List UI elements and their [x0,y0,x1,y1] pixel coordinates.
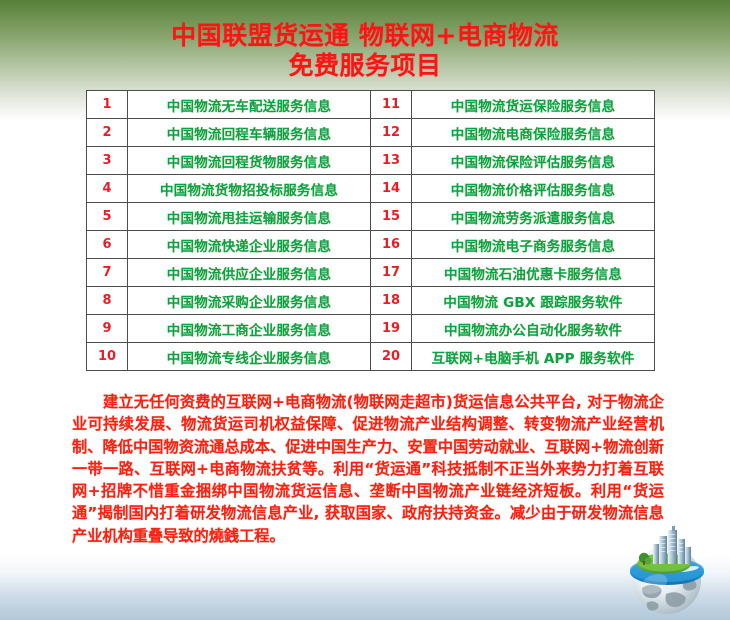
service-list-table: 1中国物流无车配送服务信息11中国物流货运保险服务信息2中国物流回程车辆服务信息… [86,90,655,371]
item-number: 15 [371,203,412,231]
description-paragraph: 建立无任何资费的互联网+电商物流(物联网走超市)货运信息公共平台, 对于物流企业… [72,391,664,547]
item-number: 19 [371,315,412,343]
item-number: 14 [371,175,412,203]
item-label[interactable]: 中国物流劳务派遣服务信息 [412,203,655,231]
item-label[interactable]: 中国物流办公自动化服务软件 [412,315,655,343]
item-label[interactable]: 中国物流回程车辆服务信息 [128,119,371,147]
item-number: 8 [87,287,128,315]
slide-title: 中国联盟货运通 物联网+电商物流 免费服务项目 [0,22,730,79]
table-row: 9中国物流工商企业服务信息19中国物流办公自动化服务软件 [87,315,655,343]
earth-globe-icon [612,522,722,618]
item-label[interactable]: 中国物流货运保险服务信息 [412,91,655,119]
title-line-2: 免费服务项目 [0,52,730,79]
table-row: 1中国物流无车配送服务信息11中国物流货运保险服务信息 [87,91,655,119]
title-line-1: 中国联盟货运通 物联网+电商物流 [0,22,730,49]
item-label[interactable]: 中国物流甩挂运输服务信息 [128,203,371,231]
table-row: 8中国物流采购企业服务信息18中国物流 GBX 跟踪服务软件 [87,287,655,315]
item-label[interactable]: 中国物流电子商务服务信息 [412,231,655,259]
item-number: 9 [87,315,128,343]
item-number: 12 [371,119,412,147]
item-label[interactable]: 中国物流快递企业服务信息 [128,231,371,259]
item-label[interactable]: 中国物流采购企业服务信息 [128,287,371,315]
item-label[interactable]: 中国物流价格评估服务信息 [412,175,655,203]
table-row: 10中国物流专线企业服务信息20互联网+电脑手机 APP 服务软件 [87,343,655,371]
table-row: 5中国物流甩挂运输服务信息15中国物流劳务派遣服务信息 [87,203,655,231]
item-label[interactable]: 中国物流专线企业服务信息 [128,343,371,371]
item-label[interactable]: 中国物流工商企业服务信息 [128,315,371,343]
table-row: 4中国物流货物招投标服务信息14中国物流价格评估服务信息 [87,175,655,203]
table-row: 2中国物流回程车辆服务信息12中国物流电商保险服务信息 [87,119,655,147]
item-number: 13 [371,147,412,175]
item-label[interactable]: 中国物流货物招投标服务信息 [128,175,371,203]
table-row: 3中国物流回程货物服务信息13中国物流保险评估服务信息 [87,147,655,175]
table-row: 6中国物流快递企业服务信息16中国物流电子商务服务信息 [87,231,655,259]
item-number: 18 [371,287,412,315]
item-label[interactable]: 中国物流供应企业服务信息 [128,259,371,287]
item-label[interactable]: 中国物流石油优惠卡服务信息 [412,259,655,287]
item-number: 7 [87,259,128,287]
item-label[interactable]: 中国物流回程货物服务信息 [128,147,371,175]
item-label[interactable]: 中国物流 GBX 跟踪服务软件 [412,287,655,315]
item-number: 2 [87,119,128,147]
item-number: 10 [87,343,128,371]
item-number: 16 [371,231,412,259]
item-number: 4 [87,175,128,203]
item-number: 1 [87,91,128,119]
item-label[interactable]: 互联网+电脑手机 APP 服务软件 [412,343,655,371]
item-number: 20 [371,343,412,371]
item-label[interactable]: 中国物流电商保险服务信息 [412,119,655,147]
item-label[interactable]: 中国物流保险评估服务信息 [412,147,655,175]
item-number: 17 [371,259,412,287]
item-number: 3 [87,147,128,175]
item-label[interactable]: 中国物流无车配送服务信息 [128,91,371,119]
slide-canvas: 中国联盟货运通 物联网+电商物流 免费服务项目 1中国物流无车配送服务信息11中… [0,0,730,620]
table-row: 7中国物流供应企业服务信息17中国物流石油优惠卡服务信息 [87,259,655,287]
item-number: 6 [87,231,128,259]
item-number: 11 [371,91,412,119]
item-number: 5 [87,203,128,231]
